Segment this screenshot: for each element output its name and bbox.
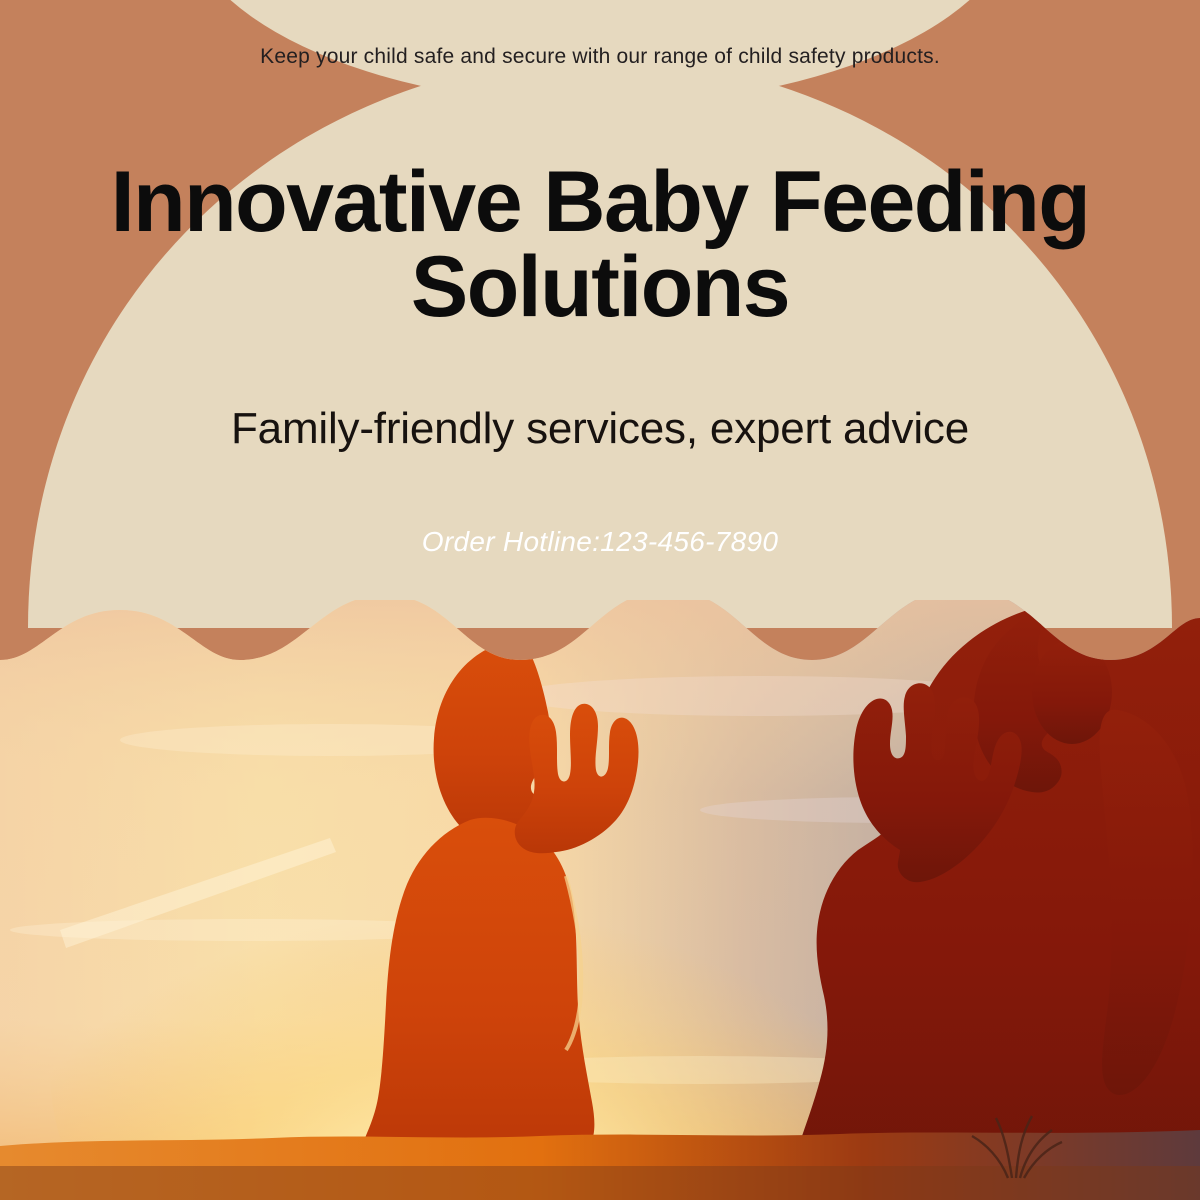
- page-title: Innovative Baby Feeding Solutions: [70, 160, 1130, 330]
- poster-canvas: Keep your child safe and secure with our…: [0, 0, 1200, 1200]
- sunset-illustration: [0, 600, 1200, 1200]
- hero-photo: [0, 600, 1200, 1200]
- adult-ponytail: [1032, 640, 1112, 744]
- subtitle-text: Family-friendly services, expert advice: [0, 404, 1200, 454]
- order-hotline-text: Order Hotline:123-456-7890: [0, 526, 1200, 558]
- ground-shadow: [0, 1166, 1200, 1200]
- hero-photo-clip: [0, 600, 1200, 1200]
- tagline-text: Keep your child safe and secure with our…: [0, 44, 1200, 69]
